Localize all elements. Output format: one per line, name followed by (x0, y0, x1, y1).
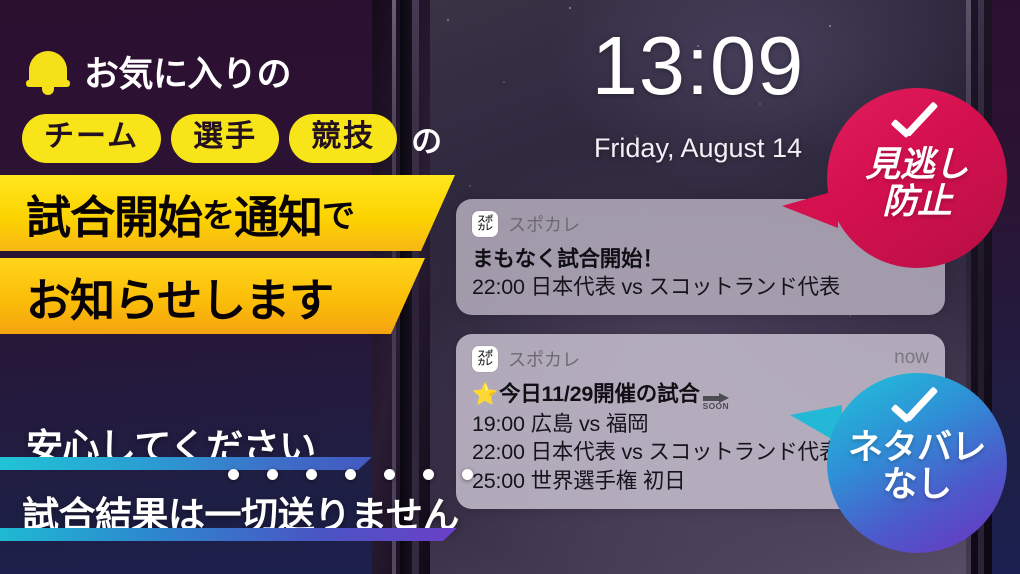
badge-miss-prevention: 見逃し 防止 (827, 88, 1007, 268)
promo-banner: 13:09 Friday, August 14 スポ カレ スポカレ まもなく試… (0, 0, 1020, 574)
notification-timestamp: now (894, 347, 929, 369)
notification-app-name: スポカレ (508, 346, 580, 372)
divider-bar-bottom (0, 528, 457, 541)
headline-banner-part-2: 通知 (234, 181, 322, 246)
pill-sport[interactable]: 競技 (289, 114, 397, 163)
star-emoji-icon: ⭐ (472, 383, 498, 407)
soon-arrow-icon: SOON (703, 393, 729, 411)
favorite-headline-row: お気に入りの (26, 46, 291, 97)
app-icon-line-2: カレ (478, 359, 493, 367)
arrow-right-icon (703, 393, 729, 402)
badge-no-spoiler: ネタバレ なし (827, 373, 1007, 553)
badge-line-1: ネタバレ (848, 429, 986, 466)
headline-banner-part-1: 試合開始 (26, 181, 202, 246)
headline-banner-particle-de: で (322, 189, 354, 237)
badge-text-block: ネタバレ なし (848, 429, 986, 504)
badge-line-2: 防止 (865, 183, 969, 220)
app-icon-spokare: スポ カレ (472, 211, 498, 237)
pill-suffix-particle: の (411, 116, 442, 161)
headline-banner-line-2: お知らせします (26, 264, 333, 329)
check-icon (888, 106, 946, 140)
check-icon (888, 391, 946, 425)
headline-banner-primary: 試合開始を通知で (0, 175, 455, 251)
emphasis-dots (228, 469, 473, 480)
favorite-headline: お気に入りの (84, 46, 291, 97)
notification-title: 今日11/29開催の試合 (499, 377, 700, 408)
notification-body-line: 22:00 日本代表 vs スコットランド代表 (472, 273, 929, 301)
pill-player[interactable]: 選手 (171, 114, 279, 163)
headline-banner-secondary: お知らせします (0, 258, 425, 334)
notification-header: スポ カレ スポカレ now (472, 346, 929, 372)
category-pill-row: チーム 選手 競技 の (22, 114, 442, 163)
bell-icon (26, 49, 70, 95)
badge-text-block: 見逃し 防止 (865, 146, 969, 221)
app-icon-spokare: スポ カレ (472, 346, 498, 372)
pill-team[interactable]: チーム (22, 114, 161, 163)
notification-app-name: スポカレ (508, 211, 580, 237)
app-icon-line-2: カレ (478, 224, 493, 232)
badge-line-2: なし (848, 466, 986, 503)
badge-line-1: 見逃し (865, 146, 969, 183)
headline-banner-particle-wo: を (202, 189, 234, 237)
